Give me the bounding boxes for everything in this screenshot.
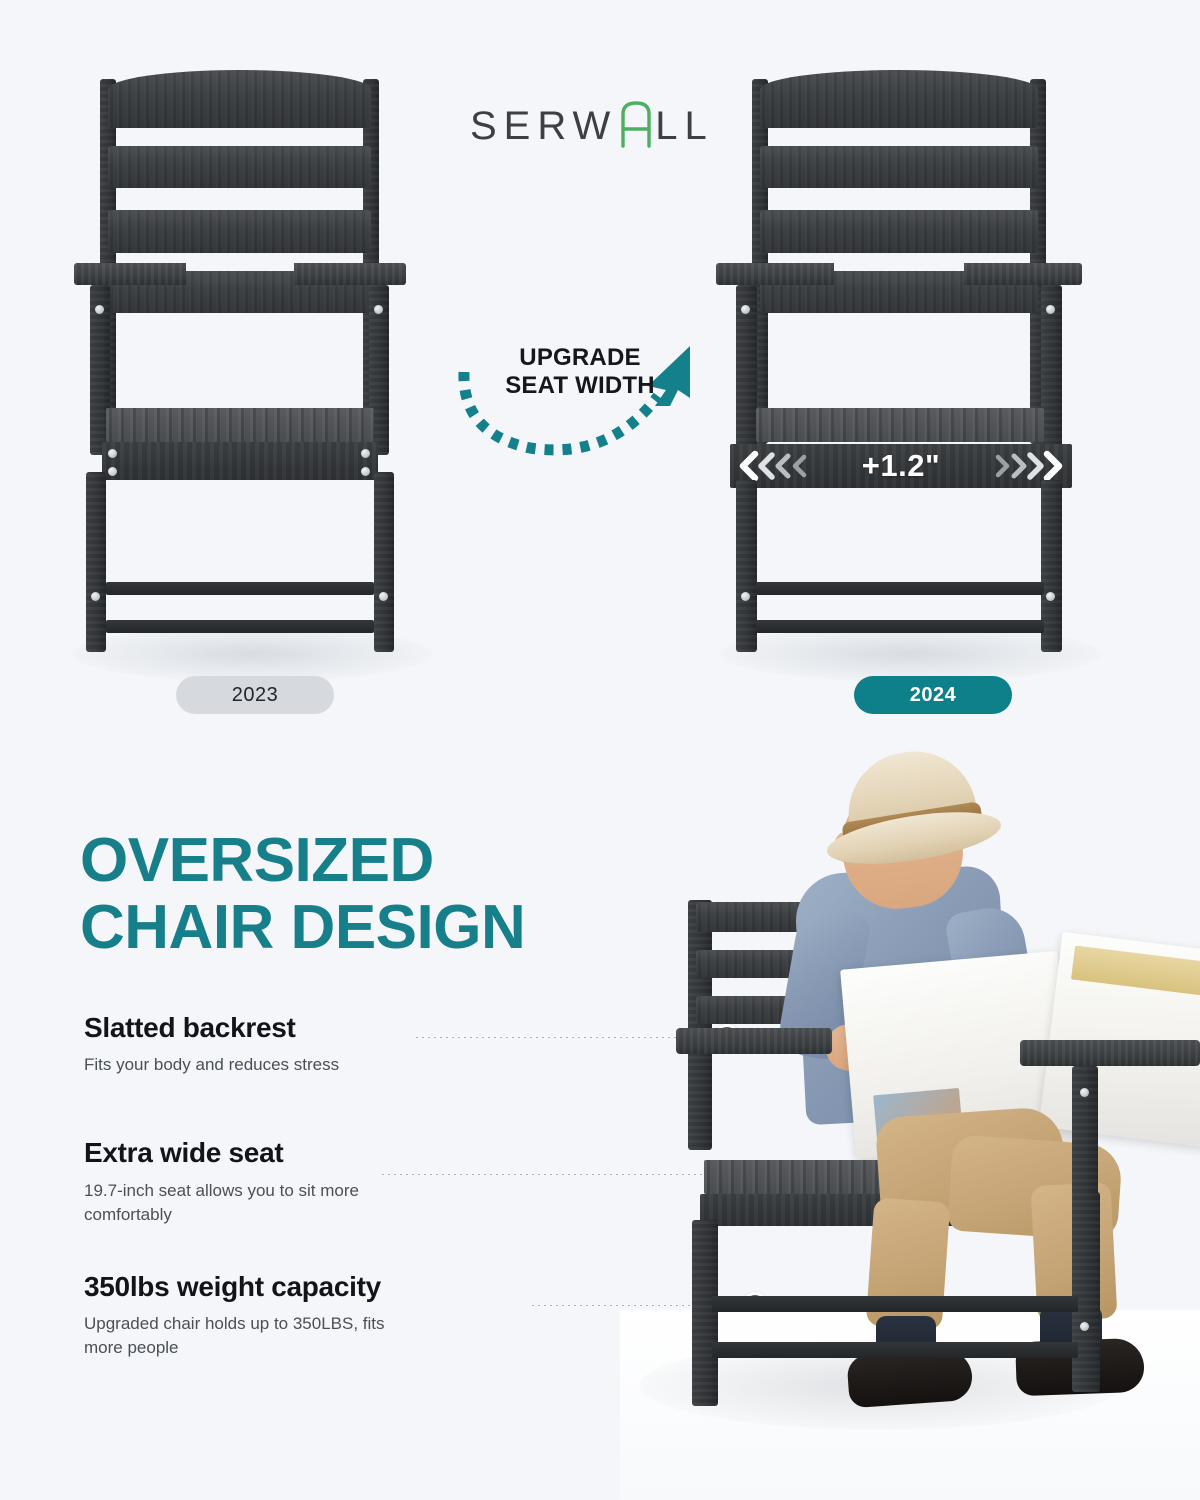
feature-item-weight-capacity: 350lbs weight capacity Upgraded chair ho… bbox=[84, 1271, 554, 1360]
photo-screw-arm-right bbox=[1080, 1088, 1089, 1097]
feature-title: Slatted backrest bbox=[84, 1012, 554, 1044]
feature-description: 19.7-inch seat allows you to sit more co… bbox=[84, 1179, 414, 1227]
feature-description: Fits your body and reduces stress bbox=[84, 1053, 414, 1077]
backrest-slat-2 bbox=[760, 146, 1038, 188]
page-title: OVERSIZED CHAIR DESIGN bbox=[80, 828, 525, 962]
screw-leg-left bbox=[741, 592, 750, 601]
seat-apron bbox=[102, 442, 378, 480]
screw-leg-right bbox=[1046, 592, 1055, 601]
lifestyle-photo bbox=[620, 740, 1200, 1500]
backrest-slat-top bbox=[760, 70, 1038, 128]
screw-arm-left bbox=[741, 305, 750, 314]
chair-2024-image: +1.2" bbox=[710, 52, 1110, 662]
photo-chair-stretcher-lower bbox=[712, 1342, 1078, 1358]
chevrons-right bbox=[990, 450, 1066, 482]
backrest-slat-top bbox=[108, 70, 371, 128]
armrest-right bbox=[294, 263, 406, 285]
brand-name-suffix: LL bbox=[655, 106, 714, 146]
photo-chair-back-post-left bbox=[688, 900, 712, 1150]
chair-2023-image bbox=[62, 52, 442, 662]
photo-chair-stretcher-upper bbox=[712, 1296, 1078, 1312]
front-leg-left bbox=[86, 472, 106, 652]
photo-chair-arm-support-right bbox=[1072, 1066, 1098, 1196]
seat-surface bbox=[756, 408, 1044, 442]
photo-screw-leg-right bbox=[1080, 1322, 1089, 1331]
screw-apron-right-bottom bbox=[361, 467, 370, 476]
brand-logo: SERW LL bbox=[470, 100, 714, 146]
stretcher-upper bbox=[106, 582, 374, 595]
screw-arm-right bbox=[374, 305, 383, 314]
feature-item-extra-wide-seat: Extra wide seat 19.7-inch seat allows yo… bbox=[84, 1137, 554, 1226]
stretcher-lower bbox=[756, 620, 1044, 633]
upgrade-callout: UPGRADE SEAT WIDTH bbox=[452, 330, 702, 460]
features-section: OVERSIZED CHAIR DESIGN Slatted backrest … bbox=[0, 740, 1200, 1500]
feature-description: Upgraded chair holds up to 350LBS, fits … bbox=[84, 1312, 414, 1360]
chair-letter-a-icon bbox=[619, 100, 653, 146]
backrest-slat-3 bbox=[760, 210, 1038, 253]
newspaper-masthead bbox=[1071, 946, 1200, 1001]
feature-title: 350lbs weight capacity bbox=[84, 1271, 554, 1303]
year-badge-2024: 2024 bbox=[854, 676, 1012, 714]
headline-line-2: CHAIR DESIGN bbox=[80, 895, 525, 962]
stretcher-upper bbox=[756, 582, 1044, 595]
armrest-right bbox=[964, 263, 1082, 285]
seat-surface bbox=[106, 408, 374, 442]
seat-width-increase-label: +1.2" bbox=[862, 448, 940, 484]
feature-title: Extra wide seat bbox=[84, 1137, 554, 1169]
photo-chair-front-leg-right bbox=[1072, 1192, 1100, 1392]
year-label-2024: 2024 bbox=[910, 684, 957, 707]
backrest-slat-3 bbox=[108, 210, 371, 253]
year-label-2023: 2023 bbox=[232, 684, 279, 707]
stretcher-lower bbox=[106, 620, 374, 633]
upgrade-line-2: SEAT WIDTH bbox=[505, 372, 655, 399]
seat-width-measure-bar: +1.2" bbox=[730, 444, 1072, 488]
front-leg-left bbox=[736, 480, 757, 652]
front-leg-right bbox=[1041, 480, 1062, 652]
headline-line-1: OVERSIZED bbox=[80, 828, 525, 895]
screw-arm-left bbox=[95, 305, 104, 314]
photo-chair-armrest-right bbox=[1020, 1040, 1200, 1066]
upgrade-callout-text: UPGRADE SEAT WIDTH bbox=[490, 344, 670, 401]
armrest-left bbox=[74, 263, 186, 285]
year-badge-2023: 2023 bbox=[176, 676, 334, 714]
upgrade-line-1: UPGRADE bbox=[519, 344, 640, 371]
screw-leg-left bbox=[91, 592, 100, 601]
screw-apron-left-top bbox=[108, 449, 117, 458]
screw-leg-right bbox=[379, 592, 388, 601]
feature-item-slatted-backrest: Slatted backrest Fits your body and redu… bbox=[84, 1012, 554, 1077]
brand-name-prefix: SERW bbox=[470, 106, 617, 146]
front-leg-right bbox=[374, 472, 394, 652]
screw-apron-left-bottom bbox=[108, 467, 117, 476]
chevrons-left bbox=[736, 450, 812, 482]
product-infographic-page: SERW LL bbox=[0, 0, 1200, 1500]
armrest-left bbox=[716, 263, 834, 285]
photo-chair-front-leg-left bbox=[692, 1220, 718, 1406]
photo-chair-armrest-left bbox=[676, 1028, 832, 1054]
screw-arm-right bbox=[1046, 305, 1055, 314]
backrest-slat-2 bbox=[108, 146, 371, 188]
feature-list: Slatted backrest Fits your body and redu… bbox=[84, 1012, 554, 1360]
screw-apron-right-top bbox=[361, 449, 370, 458]
comparison-section: SERW LL bbox=[0, 0, 1200, 740]
